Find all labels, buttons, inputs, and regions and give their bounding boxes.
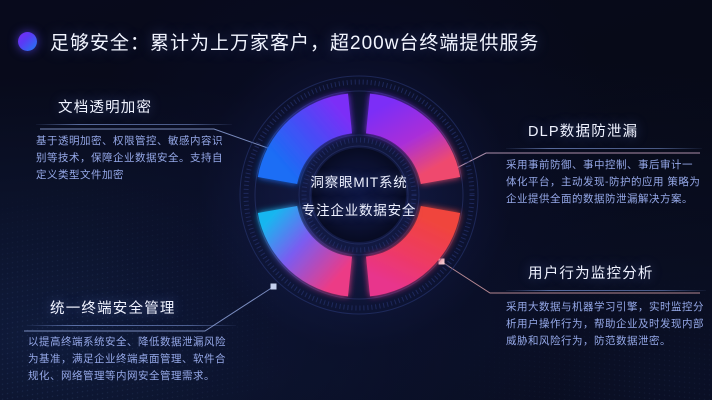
slide-title-text: 足够安全：累计为上万家客户，超200w台终端提供服务 [50,28,539,55]
callout-divider [506,290,706,291]
donut-diagram: 洞察眼MIT系统 专注企业数据安全 [236,72,482,318]
callout-divider [506,148,702,149]
callout-heading-endpoint-security: 统一终端安全管理 [50,297,236,318]
callout-dlp: DLP数据防泄漏 采用事前防御、事中控制、事后审计一体化平台，主动发现-防护的应… [506,120,702,208]
callout-body-dlp: 采用事前防御、事中控制、事后审计一体化平台，主动发现-防护的应用 策略为企业提供… [506,157,702,208]
callout-body-document-encryption: 基于透明加密、权限管控、敏感内容识别等技术，保障企业数据安全。支持自定义类型文件… [36,133,232,184]
callout-heading-dlp: DLP数据防泄漏 [528,120,702,141]
callout-endpoint-security: 统一终端安全管理 以提高终端系统安全、降低数据泄漏风险为基准，满足企业终端桌面管… [28,297,236,385]
callout-body-endpoint-security: 以提高终端系统安全、降低数据泄漏风险为基准，满足企业终端桌面管理、软件合规化、网… [28,334,236,385]
callout-document-encryption: 文档透明加密 基于透明加密、权限管控、敏感内容识别等技术，保障企业数据安全。支持… [36,96,232,184]
callout-behavior-analysis: 用户行为监控分析 采用大数据与机器学习引擎，实时监控分析用户操作行为，帮助企业及… [506,262,706,350]
slide-root: 足够安全：累计为上万家客户，超200w台终端提供服务 [0,0,712,400]
callout-divider [28,325,236,326]
callout-heading-behavior-analysis: 用户行为监控分析 [528,262,706,283]
callout-body-behavior-analysis: 采用大数据与机器学习引擎，实时监控分析用户操作行为，帮助企业及时发现内部威胁和风… [506,299,706,350]
callout-divider [36,124,232,125]
slide-title: 足够安全：累计为上万家客户，超200w台终端提供服务 [18,28,539,55]
callout-heading-document-encryption: 文档透明加密 [58,96,232,117]
gradient-dot-icon [18,32,37,51]
